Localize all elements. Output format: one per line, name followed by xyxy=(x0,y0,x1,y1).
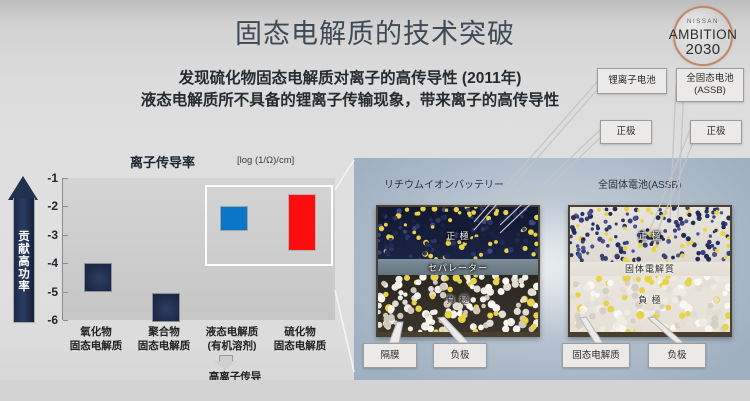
logo-word: AMBITION xyxy=(664,27,742,42)
callout-label: 正极 xyxy=(706,126,725,138)
subtitle-line-1: 发现硫化物固态电解质对离子的高传导性 (2011年) xyxy=(0,68,700,90)
left-separator-label: セパレーター xyxy=(428,261,488,274)
chart-zoom-highlight-box xyxy=(205,185,333,266)
callout-label: 负极 xyxy=(667,350,686,362)
chart-unit-label: [log (1/Ω)/cm] xyxy=(237,155,294,166)
slide-canvas: 固态电解质的技术突破 发现硫化物固态电解质对离子的高传导性 (2011年) 液态… xyxy=(0,0,750,401)
right-electrolyte-label: 固体電解質 xyxy=(625,262,675,275)
nissan-ambition-logo: NISSAN AMBITION 2030 xyxy=(664,6,742,62)
y-axis-tick-mark xyxy=(63,206,68,207)
y-axis-tick: -1 xyxy=(47,171,63,185)
y-axis-tick: -2 xyxy=(47,199,63,213)
y-axis-tick-mark xyxy=(63,320,68,321)
callout-separator[interactable]: 隔膜 xyxy=(363,343,417,368)
callout-solid-electrolyte[interactable]: 固态电解质 xyxy=(562,343,630,368)
logo-year: 2030 xyxy=(664,41,742,58)
callout-label: 锂离子电池 xyxy=(608,75,656,87)
all-solid-state-battery-cell: 正 極 固体電解質 負 極 xyxy=(568,205,732,337)
chart-bar xyxy=(84,263,112,292)
y-axis-label: 贡献高功率 xyxy=(8,202,38,320)
y-axis-tick: -3 xyxy=(47,228,63,242)
x-axis-label: 硫化物固态电解质 xyxy=(260,326,340,353)
callout-label: 隔膜 xyxy=(380,350,399,362)
callout-label-line-2: (ASSB) xyxy=(694,85,726,97)
left-anode-label: 負 極 xyxy=(446,293,470,306)
y-axis-tick-mark xyxy=(63,263,68,264)
right-battery-heading: 全固体電池(ASSB) xyxy=(598,176,681,191)
chart-plot-area: -1-2-3-4-5-6 xyxy=(62,178,335,320)
y-axis-tick: -6 xyxy=(47,313,63,327)
right-cathode-label: 正 極 xyxy=(638,229,662,242)
left-cathode-label: 正 極 xyxy=(446,229,470,242)
x-axis-label-line-2: 固态电解质 xyxy=(260,340,340,354)
bottom-bar xyxy=(0,380,750,401)
leader-line xyxy=(335,160,354,190)
y-axis-tick-mark xyxy=(63,235,68,236)
y-axis-arrow: 贡献高功率 xyxy=(8,176,38,322)
subtitle-line-2: 液态电解质所不具备的锂离子传输现象，带来离子的高传导性 xyxy=(0,90,700,112)
y-axis-tick: -4 xyxy=(47,256,63,270)
chart-title: 离子传导率 xyxy=(130,152,195,171)
callout-label: 负极 xyxy=(450,350,469,362)
callout-lithium-ion-battery[interactable]: 锂离子电池 xyxy=(597,68,667,94)
lithium-ion-battery-cell: 正 極 セパレーター 負 極 xyxy=(376,205,540,337)
callout-cathode-right[interactable]: 正极 xyxy=(690,120,742,144)
arrow-head-icon xyxy=(8,176,38,200)
callout-all-solid-state-battery[interactable]: 全固态电池 (ASSB) xyxy=(676,68,744,102)
callout-label: 固态电解质 xyxy=(572,350,620,362)
callout-label: 正极 xyxy=(616,126,635,138)
y-axis-tick: -5 xyxy=(47,285,63,299)
logo-brand: NISSAN xyxy=(664,19,742,25)
callout-cathode-left[interactable]: 正极 xyxy=(600,120,652,144)
y-axis-tick-mark xyxy=(63,292,68,293)
callout-anode-left[interactable]: 负极 xyxy=(433,343,487,368)
left-battery-heading: リチウムイオンバッテリー xyxy=(384,176,504,191)
chart-bar xyxy=(152,293,180,322)
subtitle-block: 发现硫化物固态电解质对离子的高传导性 (2011年) 液态电解质所不具备的锂离子… xyxy=(0,68,700,113)
callout-anode-right[interactable]: 负极 xyxy=(648,343,706,368)
y-axis-tick-mark xyxy=(63,178,68,179)
callout-label-line-1: 全固态电池 xyxy=(686,73,734,85)
page-title: 固态电解质的技术突破 xyxy=(0,12,750,51)
x-axis-label-line-1: 硫化物 xyxy=(260,326,340,340)
right-anode-label: 負 極 xyxy=(638,293,662,306)
